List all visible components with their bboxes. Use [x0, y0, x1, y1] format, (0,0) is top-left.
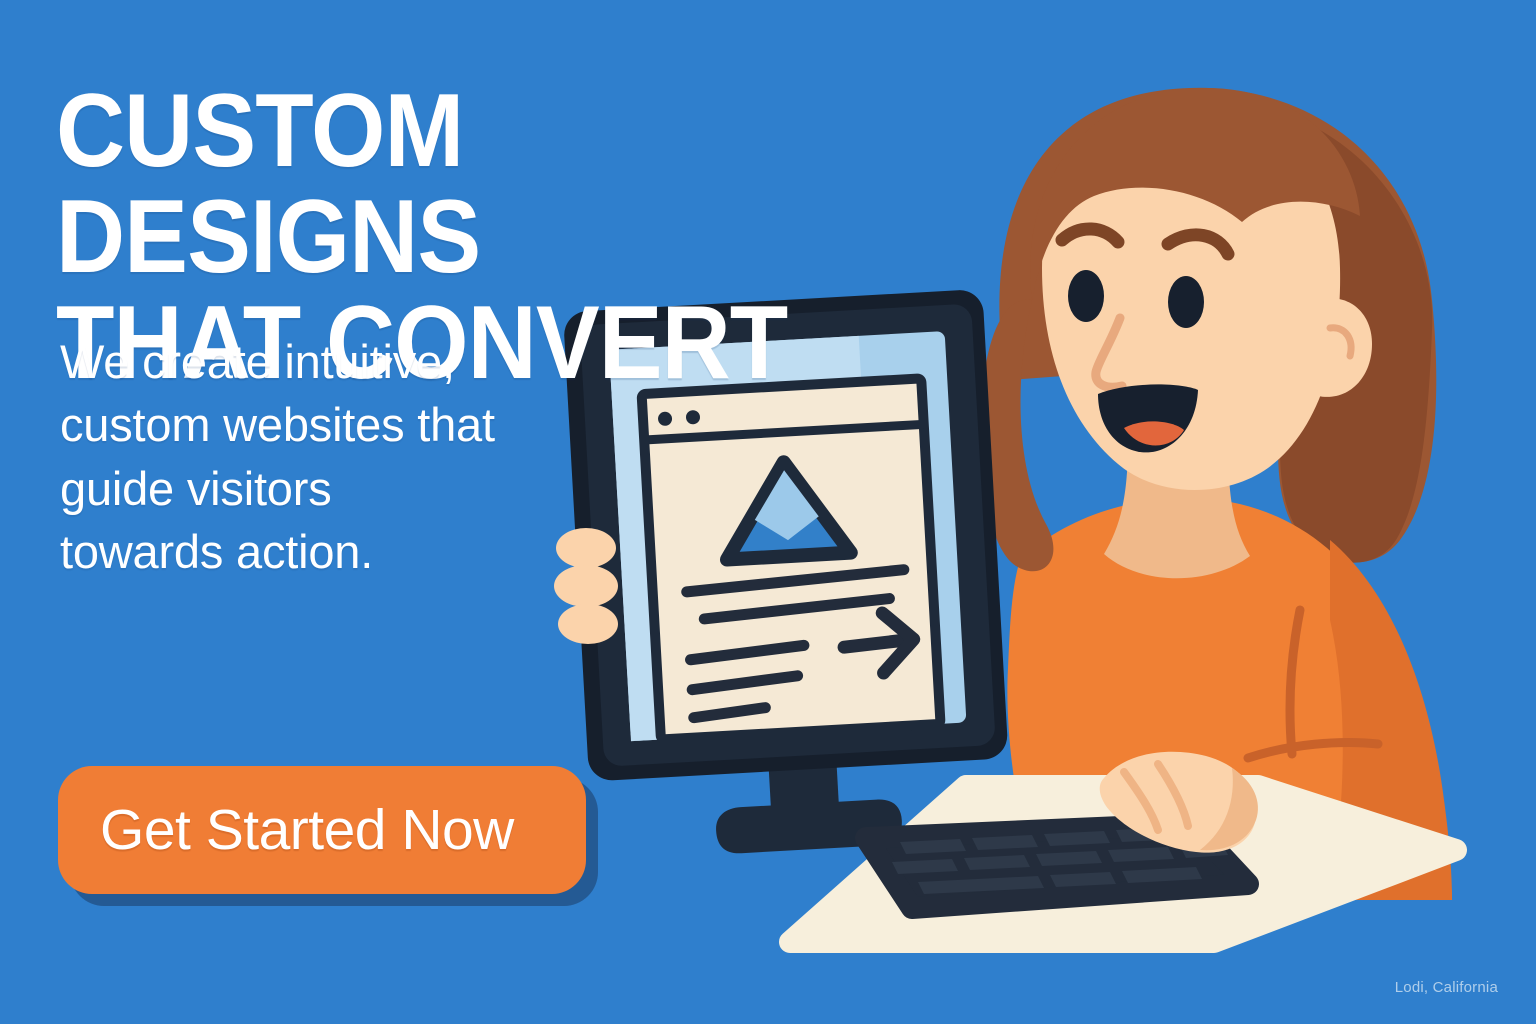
desk	[790, 786, 1456, 942]
text-line-5	[693, 708, 765, 718]
shirt-crease-lower	[1248, 743, 1378, 758]
hair-fringe	[1030, 88, 1360, 300]
eyebrow-right	[1168, 235, 1228, 254]
content-text-lines	[686, 570, 911, 718]
ear-inner	[1330, 328, 1351, 356]
shirt-shade	[1330, 540, 1452, 900]
eyebrow-left	[1062, 229, 1118, 242]
get-started-button[interactable]: Get Started Now	[58, 766, 586, 894]
ear	[1318, 298, 1372, 397]
promo-banner: CUSTOM DESIGNS THAT CONVERT We create in…	[0, 0, 1536, 1024]
hair-back	[999, 88, 1436, 563]
eye-left	[1068, 270, 1104, 322]
hair-back-shade	[1268, 120, 1432, 563]
woman-figure	[980, 88, 1452, 900]
browser-dot-2	[686, 410, 701, 425]
tongue	[1124, 421, 1184, 445]
shirt-torso	[1007, 498, 1452, 900]
browser-page	[642, 378, 941, 739]
location-label: Lodi, California	[1395, 979, 1498, 996]
text-line-1	[686, 570, 904, 592]
text-line-2	[704, 599, 890, 619]
shirt-crease-upper	[1290, 610, 1300, 754]
subheading-text: We create intuitive, custom websites tha…	[60, 330, 500, 584]
browser-dot-1	[658, 411, 673, 426]
finger-a	[1124, 772, 1158, 830]
face	[1042, 112, 1340, 490]
browser-titlebar-divider	[644, 424, 924, 440]
finger-3	[558, 604, 618, 644]
wrist-shade	[1200, 768, 1258, 850]
text-line-4	[692, 676, 798, 690]
monitor-stand-neck	[768, 750, 840, 820]
right-arrow-icon	[842, 611, 915, 675]
typing-hand	[1100, 752, 1258, 853]
keyboard-keys	[892, 827, 1228, 894]
text-line-3	[690, 645, 804, 659]
neck	[1104, 440, 1250, 578]
finger-1	[556, 528, 616, 568]
eye-right	[1168, 276, 1204, 328]
keyboard	[866, 824, 1248, 908]
hand-gripping-monitor	[554, 528, 618, 644]
finger-2	[554, 565, 618, 607]
mouth	[1098, 384, 1198, 452]
mountain-triangle-icon	[722, 459, 851, 560]
monitor-stand-base	[715, 798, 903, 854]
finger-b	[1158, 764, 1188, 826]
nose	[1096, 318, 1122, 387]
hair-side-left	[980, 300, 1053, 572]
